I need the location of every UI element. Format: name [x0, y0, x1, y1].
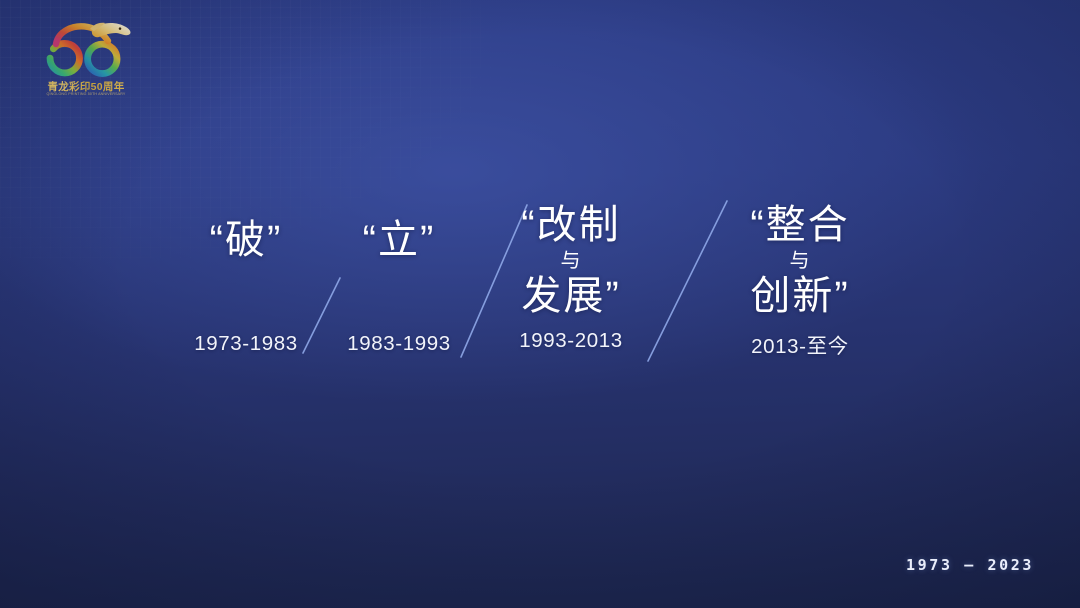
phase-3-title-line1: “改制: [481, 203, 661, 249]
timeline-phase-4: “整合 与 创新” 2013-至今: [710, 203, 890, 359]
phase-3-years: 1993-2013: [481, 329, 661, 353]
phase-4-conjunction: 与: [710, 249, 890, 274]
phase-1-years: 1973-1983: [166, 332, 326, 356]
phase-1-title: “破”: [166, 218, 326, 264]
phase-2-years: 1983-1993: [319, 332, 479, 356]
timeline-phase-2: “立” 1983-1993: [319, 218, 479, 356]
footer-year-range: 1973 — 2023: [906, 556, 1034, 574]
phase-2-title: “立”: [319, 218, 479, 264]
timeline-phase-3: “改制 与 发展” 1993-2013: [481, 203, 661, 353]
timeline-phase-1: “破” 1973-1983: [166, 218, 326, 356]
phase-4-title-line2: 创新”: [710, 274, 890, 320]
phase-3-conjunction: 与: [481, 249, 661, 274]
timeline-section: “破” 1973-1983 “立” 1983-1993 “改制 与 发展” 19…: [0, 0, 1080, 608]
phase-4-years: 2013-至今: [710, 329, 890, 359]
presentation-slide: 青龙彩印50周年 QINGLONG PRINTING 50TH ANNIVERS…: [0, 0, 1080, 608]
phase-4-title-line1: “整合: [710, 203, 890, 249]
phase-3-title-line2: 发展”: [481, 274, 661, 320]
